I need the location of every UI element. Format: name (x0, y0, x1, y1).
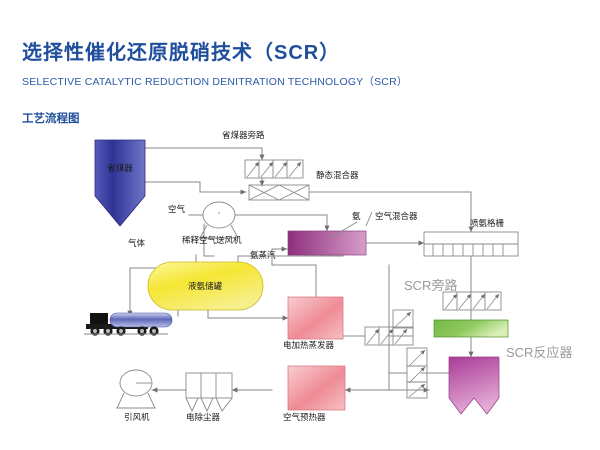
leader-line-air-mixer (366, 212, 372, 226)
pipe-economizer-to-static-mixer (145, 182, 246, 192)
slide-canvas: 选择性催化还原脱硝技术（SCR） SELECTIVE CATALYTIC RED… (0, 0, 600, 450)
label-static-mixer: 静态混合器 (316, 170, 359, 181)
equipment-static-mixer (249, 185, 309, 200)
label-electric-heater-evaporator: 电加热蒸发器 (283, 340, 335, 351)
label-air: 空气 (168, 204, 186, 215)
label-ammonia: 氨 (352, 211, 361, 222)
equipment-scr-bypass-damper (443, 292, 501, 310)
label-aig: 喷氨格栅 (470, 218, 505, 229)
equipment-tanker-truck (84, 313, 172, 336)
label-ammonia-vapor: 氨蒸汽 (250, 250, 276, 261)
label-liquid-ammonia-tank: 液氨储罐 (188, 281, 223, 292)
label-esp: 电除尘器 (186, 412, 221, 423)
pipe-heater-to-ammonia-vapor (272, 265, 316, 297)
label-economizer-bypass: 省煤器旁路 (222, 130, 265, 141)
equipment-liquid-ammonia-tank: 液氨储罐 (148, 262, 263, 310)
equipment-ammonia-injection-grid (424, 232, 518, 256)
equipment-economizer-bypass-damper (245, 160, 303, 178)
equipment-electric-heater-evaporator (288, 297, 343, 339)
label-dilution-air-fan: 稀释空气送风机 (182, 235, 242, 246)
equipment-flue-damper-small (393, 310, 413, 328)
label-air-mixer: 空气混合器 (375, 211, 418, 222)
equipment-induced-draft-fan (117, 370, 155, 408)
label-induced-draft-fan: 引风机 (124, 412, 150, 423)
label-scr-reactor: SCR反应器 (506, 345, 572, 360)
equipment-air-preheater (288, 366, 345, 410)
label-economizer: 省煤器 (107, 163, 133, 174)
pipe-blower-to-mixer (235, 215, 327, 231)
equipment-scr-reactor (449, 357, 499, 414)
equipment-electrostatic-precipitator (186, 373, 232, 411)
equipment-economizer: 省煤器 (95, 140, 145, 226)
label-gas: 气体 (128, 238, 146, 249)
label-air-preheater: 空气预热器 (283, 412, 326, 423)
equipment-catalyst-module (434, 320, 508, 337)
process-flow-diagram: 省煤器 (0, 0, 600, 450)
equipment-dilution-air-fan (200, 202, 238, 238)
label-scr-bypass: SCR旁路 (404, 278, 457, 293)
